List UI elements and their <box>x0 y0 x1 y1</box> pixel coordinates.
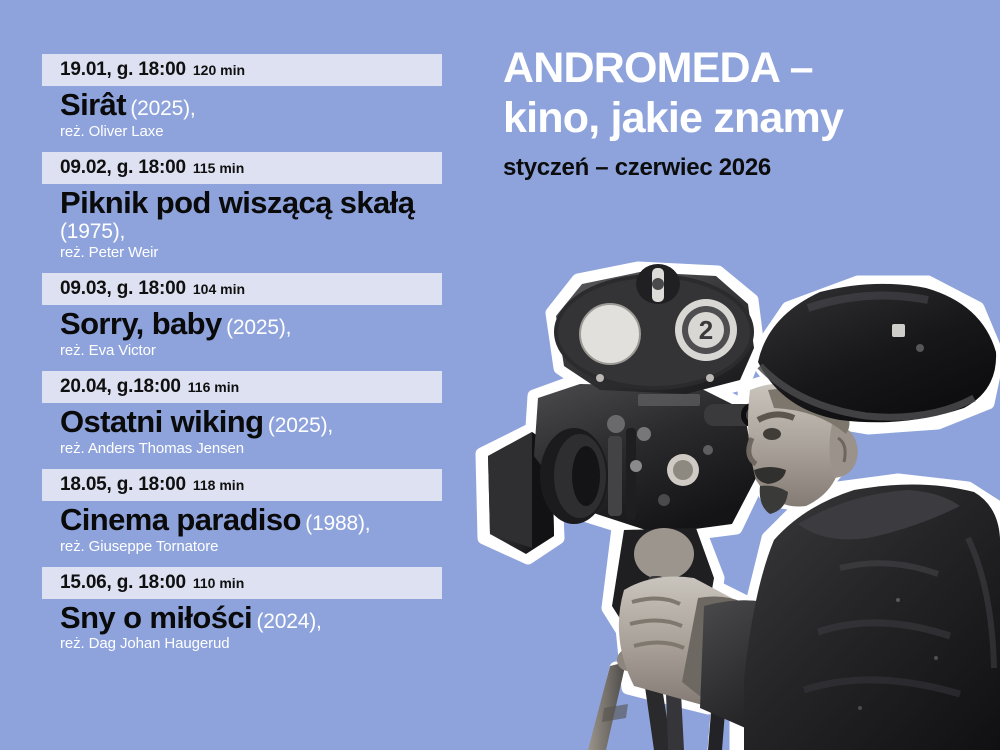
poster-canvas: 19.01, g. 18:00120 minSirât (2025),reż. … <box>0 0 1000 750</box>
film-info-block: Piknik pod wiszącą skałą(1975),reż. Pete… <box>42 184 444 261</box>
film-info-block: Sny o miłości (2024),reż. Dag Johan Haug… <box>42 599 444 653</box>
page-title: ANDROMEDA – kino, jakie znamy <box>503 44 973 144</box>
screening-runtime: 115 min <box>193 160 244 176</box>
screening-datetime: 20.04, g.18:00 <box>60 376 181 398</box>
screening-datetime: 09.02, g. 18:00 <box>60 157 186 179</box>
screening-datebar: 09.02, g. 18:00115 min <box>42 152 442 184</box>
screening-datetime: 19.01, g. 18:00 <box>60 59 186 81</box>
film-director: reż. Giuseppe Tornatore <box>60 538 444 555</box>
film-year: (2025), <box>226 316 291 339</box>
film-year: (2024), <box>257 610 322 633</box>
screening-entry: 20.04, g.18:00116 minOstatni wiking (202… <box>42 371 444 457</box>
film-title-line: Cinema paradiso (1988), <box>60 504 444 537</box>
cameraman-photo-cutout: 2 <box>468 238 1000 750</box>
beret-badge <box>892 324 905 337</box>
film-reel-number: 2 <box>699 315 713 345</box>
screening-datetime: 09.03, g. 18:00 <box>60 278 186 300</box>
film-title: Sny o miłości <box>60 600 252 635</box>
screening-datebar: 15.06, g. 18:00110 min <box>42 567 442 599</box>
screening-datebar: 20.04, g.18:00116 min <box>42 371 442 403</box>
screening-runtime: 104 min <box>193 281 245 297</box>
screening-entry: 15.06, g. 18:00110 minSny o miłości (202… <box>42 567 444 653</box>
film-camera-body <box>534 384 763 534</box>
film-title-line: Sirât (2025), <box>60 89 444 122</box>
film-title-line: Piknik pod wiszącą skałą(1975), <box>60 187 444 243</box>
screening-entry: 09.02, g. 18:00115 minPiknik pod wiszącą… <box>42 152 444 261</box>
film-year: (1975), <box>60 221 444 243</box>
poster-subtitle: styczeń – czerwiec 2026 <box>503 154 973 182</box>
film-title: Sorry, baby <box>60 306 222 341</box>
screening-runtime: 116 min <box>188 379 239 395</box>
poster-title-block: ANDROMEDA – kino, jakie znamy styczeń – … <box>503 44 973 182</box>
film-director: reż. Peter Weir <box>60 244 444 261</box>
screening-schedule-list: 19.01, g. 18:00120 minSirât (2025),reż. … <box>42 54 444 652</box>
film-info-block: Ostatni wiking (2025),reż. Anders Thomas… <box>42 403 444 457</box>
film-title-line: Ostatni wiking (2025), <box>60 406 444 439</box>
film-title-line: Sorry, baby (2025), <box>60 308 444 341</box>
film-title: Piknik pod wiszącą skałą <box>60 185 414 220</box>
film-info-block: Sirât (2025),reż. Oliver Laxe <box>42 86 444 140</box>
film-info-block: Sorry, baby (2025),reż. Eva Victor <box>42 305 444 359</box>
screening-entry: 18.05, g. 18:00118 minCinema paradiso (1… <box>42 469 444 555</box>
screening-datetime: 18.05, g. 18:00 <box>60 474 186 496</box>
screening-runtime: 110 min <box>193 575 244 591</box>
screening-datebar: 09.03, g. 18:00104 min <box>42 273 442 305</box>
screening-runtime: 120 min <box>193 62 245 78</box>
film-director: reż. Eva Victor <box>60 342 444 359</box>
film-info-block: Cinema paradiso (1988),reż. Giuseppe Tor… <box>42 501 444 555</box>
film-year: (2025), <box>268 414 333 437</box>
film-director: reż. Oliver Laxe <box>60 123 444 140</box>
title-line-2: kino, jakie znamy <box>503 94 973 144</box>
screening-datetime: 15.06, g. 18:00 <box>60 572 186 594</box>
film-title: Sirât <box>60 87 126 122</box>
film-year: (1988), <box>305 512 370 535</box>
title-line-1: ANDROMEDA – <box>503 44 813 92</box>
screening-entry: 09.03, g. 18:00104 minSorry, baby (2025)… <box>42 273 444 359</box>
screening-datebar: 19.01, g. 18:00120 min <box>42 54 442 86</box>
film-title-line: Sny o miłości (2024), <box>60 602 444 635</box>
film-year: (2025), <box>130 97 195 120</box>
screening-entry: 19.01, g. 18:00120 minSirât (2025),reż. … <box>42 54 444 140</box>
screening-datebar: 18.05, g. 18:00118 min <box>42 469 442 501</box>
film-title: Cinema paradiso <box>60 502 301 537</box>
film-director: reż. Anders Thomas Jensen <box>60 440 444 457</box>
screening-runtime: 118 min <box>193 477 244 493</box>
film-title: Ostatni wiking <box>60 404 263 439</box>
film-director: reż. Dag Johan Haugerud <box>60 635 444 652</box>
